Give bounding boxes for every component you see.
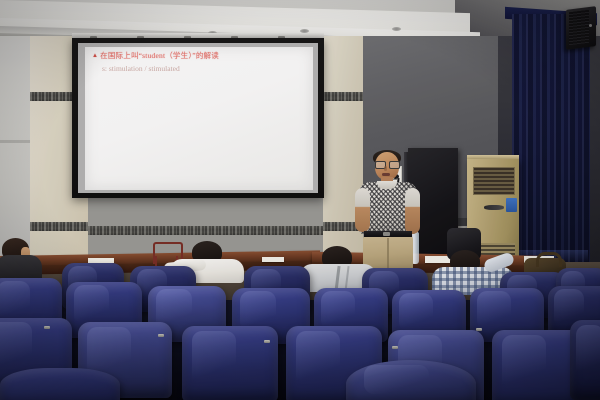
seat[interactable] (570, 320, 600, 400)
lecture-hall-photo: ▲在国际上叫“student（学生）”的解读 s: stimulation / … (0, 0, 600, 400)
stage-curtain (512, 14, 590, 268)
speaker-led-icon (589, 24, 592, 27)
seat-armrest-front[interactable] (0, 368, 120, 400)
speaker-grille (569, 10, 589, 45)
air-conditioner-vent-slot (484, 205, 504, 210)
paper-sheet (262, 257, 284, 262)
backpack-strap (536, 252, 562, 267)
wall-panel-left-gray (0, 36, 30, 268)
seat-armrest-front[interactable] (346, 360, 476, 400)
presenter-mouth (382, 173, 390, 176)
slide-line-1-text: 在国际上叫“student（学生）”的解读 (100, 51, 219, 60)
presenter-trouser-pleat (387, 238, 389, 270)
slide-bullet-icon: ▲ (92, 53, 98, 59)
slide-line-2: s: stimulation / stimulated (102, 64, 308, 73)
slide-line-1: ▲在国际上叫“student（学生）”的解读 (92, 50, 308, 61)
glasses-icon (375, 161, 399, 167)
presenter-nose (384, 166, 387, 171)
stage-chair-leg (155, 256, 157, 266)
presenter-right-arm (405, 188, 420, 234)
presenter-belt-buckle (383, 232, 390, 236)
downlight-icon (392, 27, 401, 31)
granite-band-lower-mid (88, 226, 323, 235)
air-conditioner-grille (473, 167, 515, 195)
wall-panel-seam (0, 140, 30, 143)
presenter-left-arm (355, 188, 370, 232)
seat[interactable] (182, 326, 278, 400)
air-conditioner-label (506, 198, 517, 212)
granite-band-lower-left (30, 222, 88, 231)
granite-band-upper-right (323, 92, 363, 101)
slide-content: ▲在国际上叫“student（学生）”的解读 s: stimulation / … (92, 50, 308, 73)
